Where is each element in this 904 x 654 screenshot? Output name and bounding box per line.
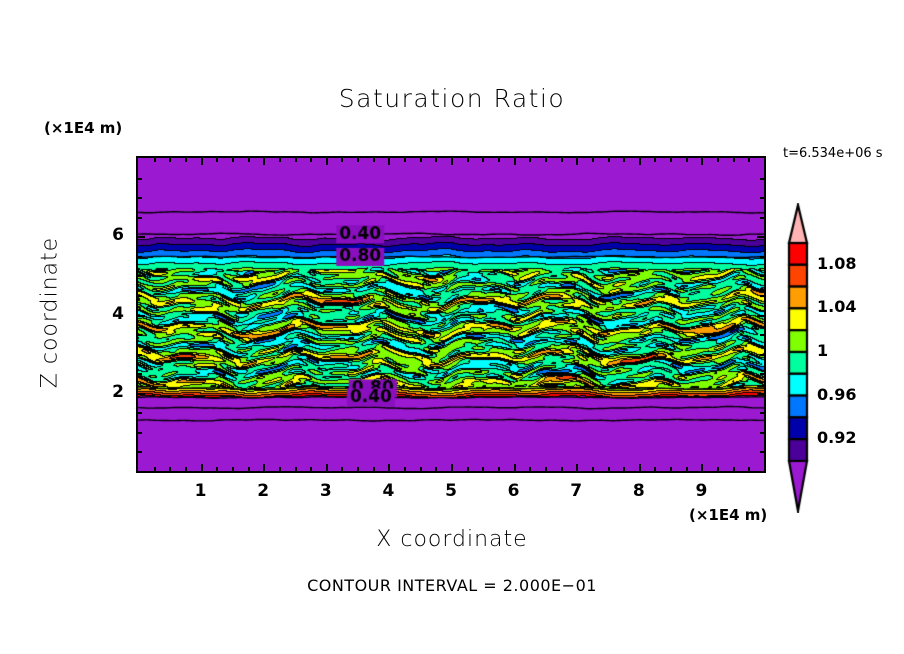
x-minor-tick [545, 158, 547, 162]
x-minor-tick [592, 158, 594, 162]
x-minor-tick [435, 158, 437, 162]
y-minor-tick [760, 178, 764, 180]
x-minor-tick [216, 467, 218, 471]
x-tick-label: 2 [248, 481, 278, 501]
x-tick-label: 4 [373, 481, 403, 501]
y-minor-tick [138, 295, 142, 297]
x-tick-mark [201, 158, 203, 165]
page-title: Saturation Ratio [0, 84, 904, 113]
x-minor-tick [404, 158, 406, 162]
x-tick-mark [451, 464, 453, 471]
x-minor-tick [310, 158, 312, 162]
x-minor-tick [670, 158, 672, 162]
x-minor-tick [357, 467, 359, 471]
y-minor-tick [138, 451, 142, 453]
x-tick-mark [201, 464, 203, 471]
x-minor-tick [373, 467, 375, 471]
y-tick-mark [138, 315, 145, 317]
x-minor-tick [232, 158, 234, 162]
x-minor-tick [279, 158, 281, 162]
x-minor-tick [310, 467, 312, 471]
colorbar [781, 203, 815, 513]
y-minor-tick [760, 256, 764, 258]
y-minor-tick [138, 256, 142, 258]
y-tick-mark [757, 393, 764, 395]
y-minor-tick [138, 354, 142, 356]
y-minor-tick [760, 295, 764, 297]
x-minor-tick [248, 158, 250, 162]
x-tick-mark [388, 464, 390, 471]
x-minor-tick [686, 158, 688, 162]
y-minor-tick [138, 334, 142, 336]
y-minor-tick [760, 412, 764, 414]
x-minor-tick [529, 467, 531, 471]
y-tick-label: 4 [94, 304, 124, 324]
x-tick-label: 8 [624, 481, 654, 501]
y-tick-mark [138, 393, 145, 395]
x-minor-tick [608, 158, 610, 162]
x-tick-mark [701, 158, 703, 165]
y-minor-tick [138, 373, 142, 375]
y-minor-tick [138, 412, 142, 414]
x-minor-tick [623, 158, 625, 162]
x-minor-tick [717, 467, 719, 471]
colorbar-tick-label: 1.04 [817, 297, 856, 316]
x-tick-mark [514, 158, 516, 165]
x-tick-mark [576, 158, 578, 165]
x-minor-tick [404, 467, 406, 471]
x-minor-tick [733, 158, 735, 162]
x-minor-tick [154, 158, 156, 162]
y-axis-title: Z coordinate [38, 203, 63, 423]
colorbar-tick-label: 1.08 [817, 254, 856, 273]
x-tick-label: 5 [436, 481, 466, 501]
x-minor-tick [154, 467, 156, 471]
y-tick-label: 6 [94, 225, 124, 245]
x-minor-tick [529, 158, 531, 162]
x-minor-tick [216, 158, 218, 162]
x-tick-mark [701, 464, 703, 471]
x-minor-tick [717, 158, 719, 162]
x-minor-tick [482, 467, 484, 471]
y-minor-tick [138, 432, 142, 434]
y-tick-mark [757, 236, 764, 238]
x-minor-tick [592, 467, 594, 471]
x-tick-label: 9 [686, 481, 716, 501]
x-minor-tick [654, 467, 656, 471]
y-tick-mark [138, 236, 145, 238]
x-tick-mark [514, 464, 516, 471]
x-tick-mark [326, 464, 328, 471]
x-minor-tick [498, 467, 500, 471]
x-tick-label: 7 [561, 481, 591, 501]
x-minor-tick [670, 467, 672, 471]
x-tick-mark [639, 464, 641, 471]
contour-plot-area [136, 156, 766, 473]
y-minor-tick [138, 217, 142, 219]
y-minor-tick [138, 197, 142, 199]
y-minor-tick [760, 275, 764, 277]
x-minor-tick [623, 467, 625, 471]
x-minor-tick [498, 158, 500, 162]
x-tick-label: 6 [499, 481, 529, 501]
x-tick-mark [263, 158, 265, 165]
x-minor-tick [748, 467, 750, 471]
x-minor-tick [748, 158, 750, 162]
x-minor-tick [169, 467, 171, 471]
x-minor-tick [545, 467, 547, 471]
y-minor-tick [760, 197, 764, 199]
colorbar-tick-label: 0.96 [817, 385, 856, 404]
x-tick-mark [639, 158, 641, 165]
x-tick-mark [451, 158, 453, 165]
x-minor-tick [467, 467, 469, 471]
x-minor-tick [185, 467, 187, 471]
x-tick-mark [576, 464, 578, 471]
x-minor-tick [561, 467, 563, 471]
colorbar-tick-label: 0.92 [817, 428, 856, 447]
x-tick-mark [263, 464, 265, 471]
x-minor-tick [733, 467, 735, 471]
x-minor-tick [467, 158, 469, 162]
contour-field-canvas [138, 158, 764, 471]
x-minor-tick [373, 158, 375, 162]
y-minor-tick [760, 217, 764, 219]
x-minor-tick [232, 467, 234, 471]
x-minor-tick [435, 467, 437, 471]
x-minor-tick [169, 158, 171, 162]
x-minor-tick [279, 467, 281, 471]
y-minor-tick [760, 334, 764, 336]
x-minor-tick [357, 158, 359, 162]
x-tick-label: 1 [186, 481, 216, 501]
x-minor-tick [420, 158, 422, 162]
y-minor-tick [760, 432, 764, 434]
y-minor-tick [138, 275, 142, 277]
x-minor-tick [185, 158, 187, 162]
y-minor-tick [760, 354, 764, 356]
x-minor-tick [295, 158, 297, 162]
x-minor-tick [561, 158, 563, 162]
x-tick-mark [388, 158, 390, 165]
contour-interval-caption: CONTOUR INTERVAL = 2.000E−01 [0, 576, 904, 595]
y-axis-unit-label: (×1E4 m) [44, 119, 122, 137]
y-minor-tick [760, 451, 764, 453]
x-axis-unit-label: (×1E4 m) [689, 506, 767, 524]
colorbar-tick-label: 1 [817, 341, 828, 360]
y-tick-mark [757, 315, 764, 317]
y-minor-tick [760, 373, 764, 375]
x-tick-label: 3 [311, 481, 341, 501]
x-minor-tick [686, 467, 688, 471]
x-axis-title: X coordinate [0, 527, 904, 552]
x-minor-tick [341, 467, 343, 471]
y-tick-label: 2 [94, 382, 124, 402]
x-minor-tick [420, 467, 422, 471]
x-minor-tick [295, 467, 297, 471]
x-minor-tick [654, 158, 656, 162]
x-minor-tick [248, 467, 250, 471]
x-tick-mark [326, 158, 328, 165]
x-minor-tick [341, 158, 343, 162]
x-minor-tick [608, 467, 610, 471]
y-minor-tick [138, 178, 142, 180]
x-minor-tick [482, 158, 484, 162]
timestamp-annotation: t=6.534e+06 s [783, 146, 883, 161]
